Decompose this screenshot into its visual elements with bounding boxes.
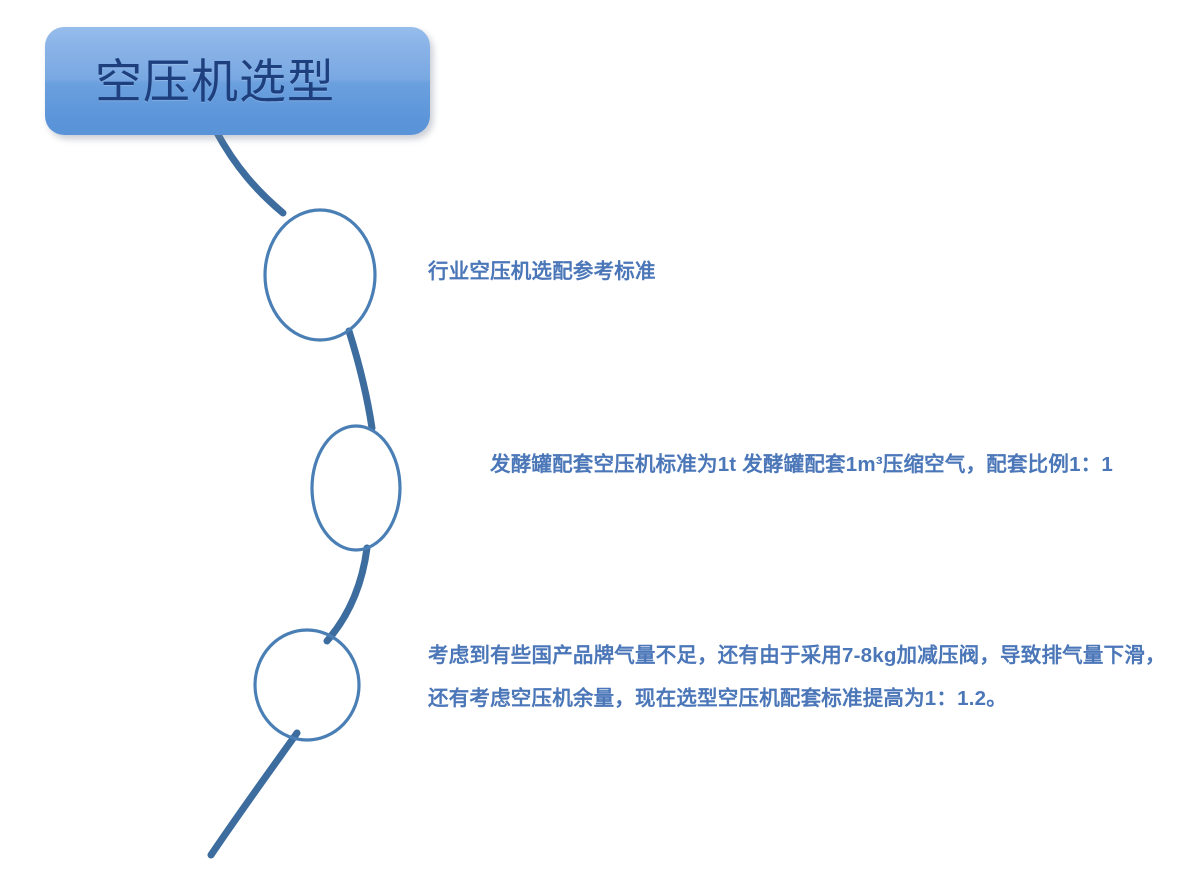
node-3-text: 考虑到有些国产品牌气量不足，还有由于采用7-8kg加减压阀，导致排气量下滑，还有… [428,634,1173,720]
connector-segment-node3-to-end [211,733,297,855]
ellipse-node-3[interactable] [255,630,359,740]
node-1-text: 行业空压机选配参考标准 [428,250,1128,293]
ellipse-node-1[interactable] [265,210,375,340]
connector-segment-node1-to-node2 [349,331,372,428]
connector-segment-title-to-node1 [216,131,283,213]
diagram-title-label: 空压机选型 [95,58,335,105]
connector-segment-node2-to-node3 [327,548,367,641]
diagram-title-box[interactable]: 空压机选型 [45,27,430,135]
diagram-canvas: 空压机选型 行业空压机选配参考标准 发酵罐配套空压机标准为1t 发酵罐配套1m³… [0,0,1200,869]
ellipse-node-2[interactable] [312,426,400,550]
node-2-text: 发酵罐配套空压机标准为1t 发酵罐配套1m³压缩空气，配套比例1：1 [490,443,1180,486]
